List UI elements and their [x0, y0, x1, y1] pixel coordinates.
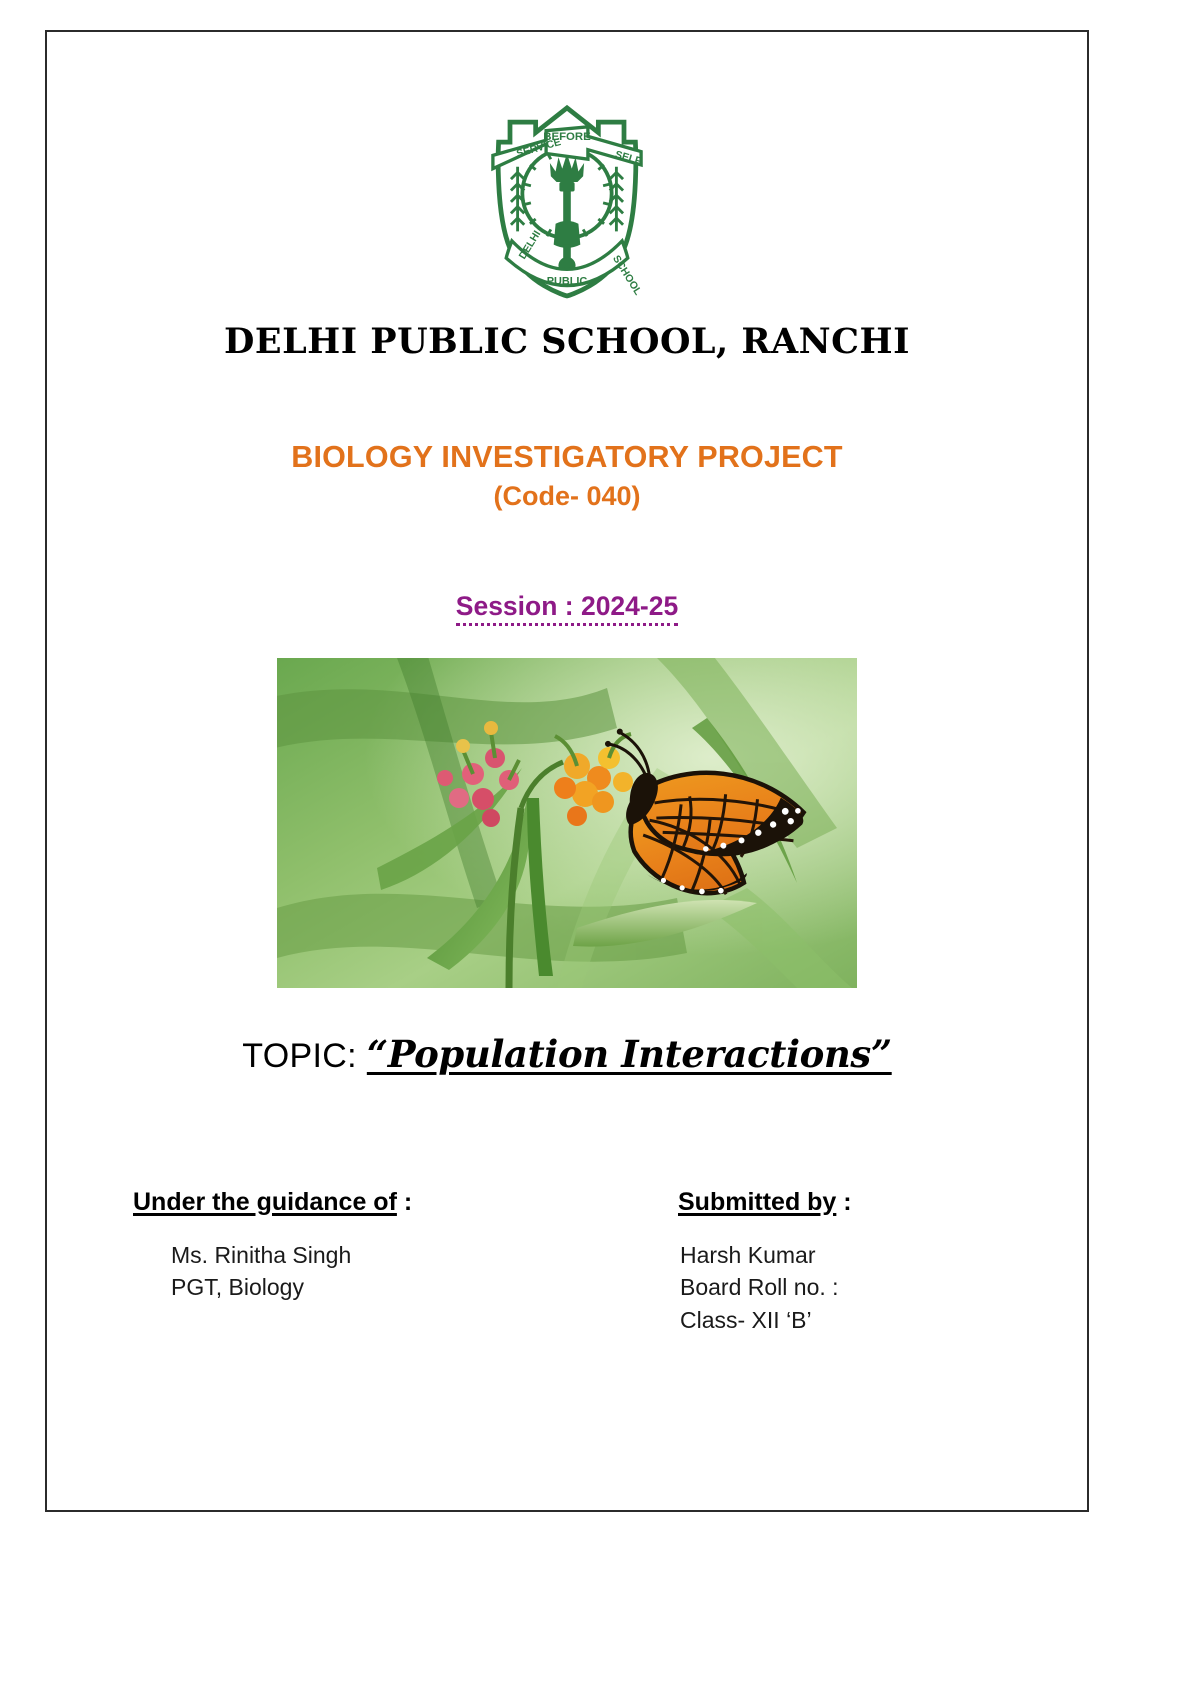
guidance-column: Under the guidance of : Ms. Rinitha Sing… [133, 1188, 678, 1337]
guidance-heading-text: Under the guidance of [133, 1188, 397, 1216]
submitted-column: Submitted by : Harsh Kumar Board Roll no… [678, 1188, 1027, 1337]
guidance-heading-suffix: : [397, 1188, 412, 1216]
submitted-heading-text: Submitted by [678, 1188, 836, 1216]
topic-label: TOPIC: [242, 1037, 357, 1076]
submitted-heading: Submitted by : [678, 1188, 1027, 1217]
guidance-line: Ms. Rinitha Singh [171, 1239, 678, 1272]
submitted-heading-suffix: : [836, 1188, 851, 1216]
guidance-details: Ms. Rinitha Singh PGT, Biology [133, 1239, 678, 1304]
submitted-details: Harsh Kumar Board Roll no. : Class- XII … [678, 1239, 1027, 1337]
school-name: DELHI PUBLIC SCHOOL, RANCHI [224, 321, 910, 362]
topic-row: TOPIC: “Population Interactions” [242, 1032, 891, 1076]
cover-content: SERVICE BEFORE SELF DELHI PUBLIC SCHOOL … [47, 32, 1087, 1510]
project-title-block: BIOLOGY INVESTIGATORY PROJECT (Code- 040… [291, 438, 843, 514]
submitted-line: Class- XII ‘B’ [680, 1304, 1027, 1337]
session-label: Session : 2024-25 [456, 591, 678, 625]
submitted-line: Board Roll no. : [680, 1271, 1027, 1304]
svg-text:PUBLIC: PUBLIC [547, 276, 588, 288]
guidance-line: PGT, Biology [171, 1271, 678, 1304]
project-title: BIOLOGY INVESTIGATORY PROJECT [291, 438, 843, 477]
school-crest: SERVICE BEFORE SELF DELHI PUBLIC SCHOOL [472, 98, 662, 303]
credits-section: Under the guidance of : Ms. Rinitha Sing… [47, 1188, 1087, 1337]
svg-text:BEFORE: BEFORE [543, 131, 591, 143]
project-code: (Code- 040) [291, 479, 843, 514]
guidance-heading: Under the guidance of : [133, 1188, 678, 1217]
topic-value: “Population Interactions” [367, 1032, 892, 1076]
submitted-line: Harsh Kumar [680, 1239, 1027, 1272]
cover-page: SERVICE BEFORE SELF DELHI PUBLIC SCHOOL … [0, 0, 1200, 1696]
butterfly-on-flower-photo [277, 658, 857, 988]
